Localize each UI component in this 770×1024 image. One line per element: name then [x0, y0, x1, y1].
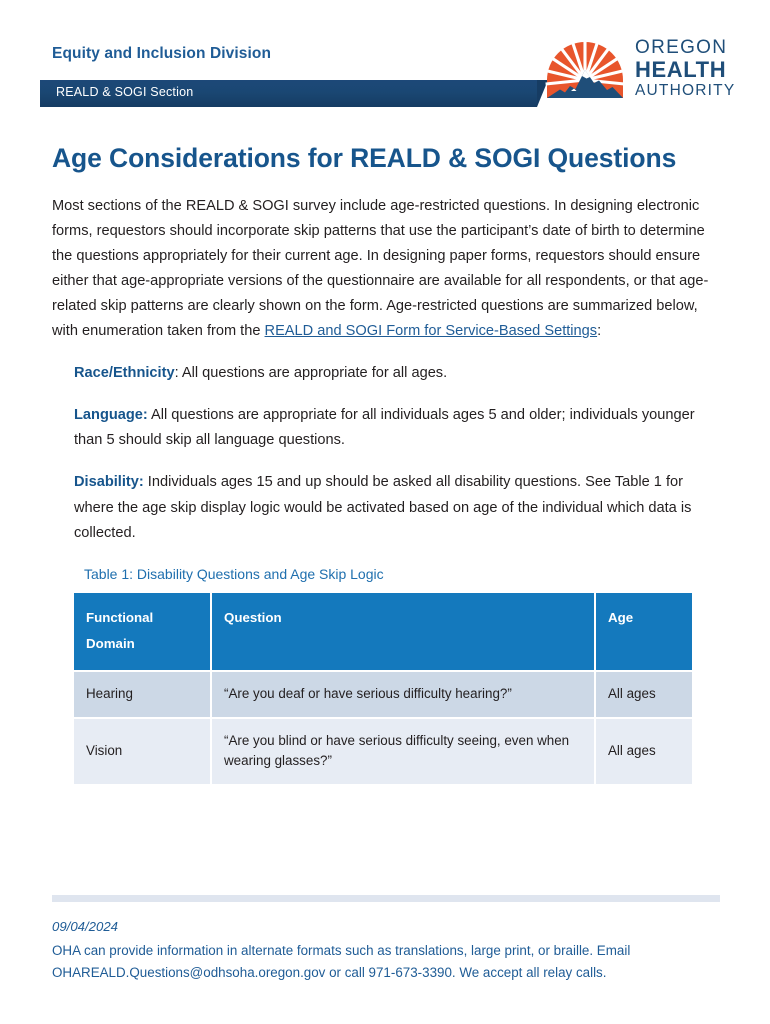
section-language-label: Language: — [74, 407, 148, 423]
table-row: Vision “Are you blind or have serious di… — [74, 719, 692, 785]
footer-divider — [52, 895, 720, 902]
section-disability: Disability: Individuals ages 15 and up s… — [74, 470, 720, 545]
table-row: Hearing “Are you deaf or have serious di… — [74, 672, 692, 717]
column-header-question: Question — [212, 593, 594, 670]
page-title: Age Considerations for REALD & SOGI Ques… — [52, 140, 720, 178]
cell-question: “Are you blind or have serious difficult… — [212, 719, 594, 785]
disability-questions-table: Functional Domain Question Age Hearing “… — [72, 591, 694, 786]
sunburst-mountain-icon — [541, 36, 629, 108]
section-banner: REALD & SOGI Section — [40, 80, 537, 107]
cell-domain: Vision — [74, 719, 210, 785]
footer-accessibility-note: OHA can provide information in alternate… — [52, 940, 720, 983]
logo-line-health: HEALTH — [635, 59, 743, 81]
column-header-age: Age — [596, 593, 692, 670]
page-footer: 09/04/2024 OHA can provide information i… — [52, 895, 720, 984]
cell-domain: Hearing — [74, 672, 210, 717]
document-page: Equity and Inclusion Division REALD & SO… — [0, 0, 770, 1024]
reald-sogi-form-link[interactable]: REALD and SOGI Form for Service-Based Se… — [265, 323, 598, 339]
intro-text-after-link: : — [597, 323, 601, 339]
column-header-functional-domain: Functional Domain — [74, 593, 210, 670]
cell-age: All ages — [596, 672, 692, 717]
document-body: Age Considerations for REALD & SOGI Ques… — [52, 140, 720, 786]
oha-logo-text: OREGON HEALTH AUTHORITY — [635, 38, 743, 99]
section-banner-label: REALD & SOGI Section — [56, 85, 193, 99]
section-race-ethnicity: Race/Ethnicity: All questions are approp… — [74, 361, 720, 386]
table-caption: Table 1: Disability Questions and Age Sk… — [84, 566, 720, 582]
section-race-ethnicity-text: : All questions are appropriate for all … — [175, 365, 448, 381]
division-title: Equity and Inclusion Division — [52, 45, 271, 63]
intro-text-before-link: Most sections of the REALD & SOGI survey… — [52, 198, 708, 339]
footer-date: 09/04/2024 — [52, 916, 720, 937]
logo-line-authority: AUTHORITY — [635, 83, 743, 99]
intro-paragraph: Most sections of the REALD & SOGI survey… — [52, 194, 720, 345]
logo-line-oregon: OREGON — [635, 38, 743, 57]
table-header-row: Functional Domain Question Age — [74, 593, 692, 670]
section-language: Language: All questions are appropriate … — [74, 403, 720, 453]
section-language-text: All questions are appropriate for all in… — [74, 407, 695, 448]
oha-logo: OREGON HEALTH AUTHORITY — [541, 36, 741, 111]
page-header: Equity and Inclusion Division REALD & SO… — [0, 0, 770, 122]
cell-age: All ages — [596, 719, 692, 785]
section-disability-label: Disability: — [74, 474, 144, 490]
section-disability-text: Individuals ages 15 and up should be ask… — [74, 474, 691, 540]
cell-question: “Are you deaf or have serious difficulty… — [212, 672, 594, 717]
section-race-ethnicity-label: Race/Ethnicity — [74, 365, 175, 381]
